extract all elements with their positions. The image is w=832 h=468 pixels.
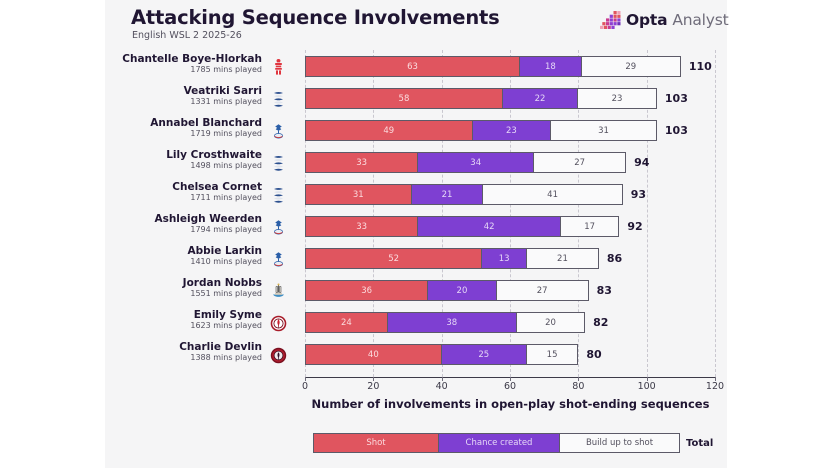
logo-text-analyst: Analyst xyxy=(672,11,728,29)
player-name: Jordan Nobbs xyxy=(117,277,262,289)
table-row: Emily Syme1623 mins played24382082 xyxy=(0,312,832,333)
table-row: Ashleigh Weerden1794 mins played33421792 xyxy=(0,216,832,237)
x-axis-title: Number of involvements in open-play shot… xyxy=(305,397,716,411)
bar-segment-build-up: 21 xyxy=(526,249,598,268)
bar-segment-build-up: 27 xyxy=(533,153,625,172)
row-total: 110 xyxy=(689,60,712,73)
stacked-bar[interactable]: 492331 xyxy=(305,120,657,141)
tick-label-100: 100 xyxy=(638,381,656,392)
stacked-bar[interactable]: 631829 xyxy=(305,56,681,77)
player-label: Ashleigh Weerden1794 mins played xyxy=(117,213,262,235)
opta-logo-mark-icon xyxy=(600,11,621,29)
chart-canvas: Attacking Sequence Involvements English … xyxy=(0,0,832,468)
bar-segment-shot: 63 xyxy=(306,57,519,76)
player-name: Abbie Larkin xyxy=(117,245,262,257)
tick-label-0: 0 xyxy=(302,381,308,392)
bar-segment-shot: 36 xyxy=(306,281,427,300)
team-crest-icon xyxy=(270,250,287,269)
team-crest-icon xyxy=(270,346,287,365)
stacked-bar[interactable]: 334217 xyxy=(305,216,619,237)
stacked-bar[interactable]: 402515 xyxy=(305,344,578,365)
row-total: 93 xyxy=(631,188,646,201)
team-crest-icon xyxy=(270,58,287,77)
player-label: Veatriki Sarri1331 mins played xyxy=(117,85,262,107)
player-label: Lily Crosthwaite1498 mins played xyxy=(117,149,262,171)
bar-segment-shot: 49 xyxy=(306,121,472,140)
bar-segment-build-up: 41 xyxy=(482,185,621,204)
legend-item-total: Total xyxy=(686,433,713,453)
player-name: Lily Crosthwaite xyxy=(117,149,262,161)
player-name: Ashleigh Weerden xyxy=(117,213,262,225)
bar-segment-shot: 33 xyxy=(306,217,417,236)
row-total: 103 xyxy=(665,124,688,137)
page-subtitle: English WSL 2 2025-26 xyxy=(132,30,242,41)
bar-segment-build-up: 17 xyxy=(560,217,618,236)
table-row: Abbie Larkin1410 mins played52132186 xyxy=(0,248,832,269)
player-minutes: 1331 mins played xyxy=(117,97,262,107)
bar-segment-chance-created: 42 xyxy=(417,217,560,236)
team-crest-icon xyxy=(270,122,287,141)
player-minutes: 1711 mins played xyxy=(117,193,262,203)
row-total: 82 xyxy=(593,316,608,329)
tick-label-60: 60 xyxy=(504,381,516,392)
bar-segment-chance-created: 21 xyxy=(411,185,483,204)
stacked-bar[interactable]: 582223 xyxy=(305,88,657,109)
team-crest-icon xyxy=(270,186,287,205)
team-crest-icon xyxy=(270,218,287,237)
stacked-bar[interactable]: 521321 xyxy=(305,248,599,269)
bar-segment-chance-created: 13 xyxy=(481,249,526,268)
player-minutes: 1785 mins played xyxy=(117,65,262,75)
player-name: Charlie Devlin xyxy=(117,341,262,353)
tick-label-20: 20 xyxy=(367,381,379,392)
player-minutes: 1623 mins played xyxy=(117,321,262,331)
player-minutes: 1498 mins played xyxy=(117,161,262,171)
player-label: Emily Syme1623 mins played xyxy=(117,309,262,331)
bar-segment-shot: 24 xyxy=(306,313,387,332)
player-label: Annabel Blanchard1719 mins played xyxy=(117,117,262,139)
player-minutes: 1388 mins played xyxy=(117,353,262,363)
table-row: Chantelle Boye-Hlorkah1785 mins played63… xyxy=(0,56,832,77)
page-title: Attacking Sequence Involvements xyxy=(131,6,500,29)
table-row: Charlie Devlin1388 mins played40251580 xyxy=(0,344,832,365)
bar-segment-chance-created: 20 xyxy=(427,281,495,300)
opta-analyst-logo: Opta Analyst xyxy=(600,11,729,29)
stacked-bar[interactable]: 362027 xyxy=(305,280,589,301)
player-name: Chelsea Cornet xyxy=(117,181,262,193)
table-row: Veatriki Sarri1331 mins played582223103 xyxy=(0,88,832,109)
tick-label-80: 80 xyxy=(572,381,584,392)
team-crest-icon xyxy=(270,90,287,109)
tick-label-120: 120 xyxy=(706,381,724,392)
row-total: 92 xyxy=(627,220,642,233)
player-label: Chelsea Cornet1711 mins played xyxy=(117,181,262,203)
team-crest-icon xyxy=(270,154,287,173)
stacked-bar[interactable]: 312141 xyxy=(305,184,623,205)
logo-text-opta: Opta xyxy=(626,11,667,29)
legend-item-chance-created[interactable]: Chance created xyxy=(439,433,560,453)
player-name: Chantelle Boye-Hlorkah xyxy=(117,53,262,65)
player-label: Chantelle Boye-Hlorkah1785 mins played xyxy=(117,53,262,75)
legend-item-shot[interactable]: Shot xyxy=(313,433,439,453)
bar-segment-shot: 33 xyxy=(306,153,417,172)
player-minutes: 1719 mins played xyxy=(117,129,262,139)
team-crest-icon xyxy=(270,282,287,301)
legend-item-build-up-to-shot[interactable]: Build up to shot xyxy=(560,433,680,453)
row-total: 86 xyxy=(607,252,622,265)
bar-segment-chance-created: 25 xyxy=(441,345,526,364)
table-row: Annabel Blanchard1719 mins played4923311… xyxy=(0,120,832,141)
bar-segment-shot: 31 xyxy=(306,185,411,204)
player-label: Charlie Devlin1388 mins played xyxy=(117,341,262,363)
bar-segment-shot: 58 xyxy=(306,89,502,108)
row-total: 80 xyxy=(586,348,601,361)
bar-segment-build-up: 23 xyxy=(577,89,656,108)
player-minutes: 1551 mins played xyxy=(117,289,262,299)
stacked-bar[interactable]: 243820 xyxy=(305,312,585,333)
chart-legend: Shot Chance created Build up to shot Tot… xyxy=(313,433,713,453)
bar-segment-build-up: 27 xyxy=(496,281,588,300)
player-minutes: 1794 mins played xyxy=(117,225,262,235)
player-name: Annabel Blanchard xyxy=(117,117,262,129)
table-row: Jordan Nobbs1551 mins played36202783 xyxy=(0,280,832,301)
bar-segment-chance-created: 34 xyxy=(417,153,533,172)
player-label: Jordan Nobbs1551 mins played xyxy=(117,277,262,299)
team-crest-icon xyxy=(270,314,287,333)
row-total: 94 xyxy=(634,156,649,169)
bar-segment-chance-created: 38 xyxy=(387,313,516,332)
row-total: 83 xyxy=(597,284,612,297)
bar-segment-build-up: 20 xyxy=(516,313,584,332)
bar-segment-chance-created: 22 xyxy=(502,89,577,108)
player-label: Abbie Larkin1410 mins played xyxy=(117,245,262,267)
bar-segment-chance-created: 23 xyxy=(472,121,551,140)
table-row: Lily Crosthwaite1498 mins played33342794 xyxy=(0,152,832,173)
bar-segment-chance-created: 18 xyxy=(519,57,581,76)
player-name: Emily Syme xyxy=(117,309,262,321)
bar-segment-build-up: 31 xyxy=(550,121,656,140)
bar-segment-shot: 40 xyxy=(306,345,441,364)
tick-label-40: 40 xyxy=(436,381,448,392)
table-row: Chelsea Cornet1711 mins played31214193 xyxy=(0,184,832,205)
bar-segment-build-up: 15 xyxy=(526,345,578,364)
bar-segment-build-up: 29 xyxy=(581,57,680,76)
player-minutes: 1410 mins played xyxy=(117,257,262,267)
player-name: Veatriki Sarri xyxy=(117,85,262,97)
stacked-bar[interactable]: 333427 xyxy=(305,152,626,173)
row-total: 103 xyxy=(665,92,688,105)
bar-segment-shot: 52 xyxy=(306,249,481,268)
